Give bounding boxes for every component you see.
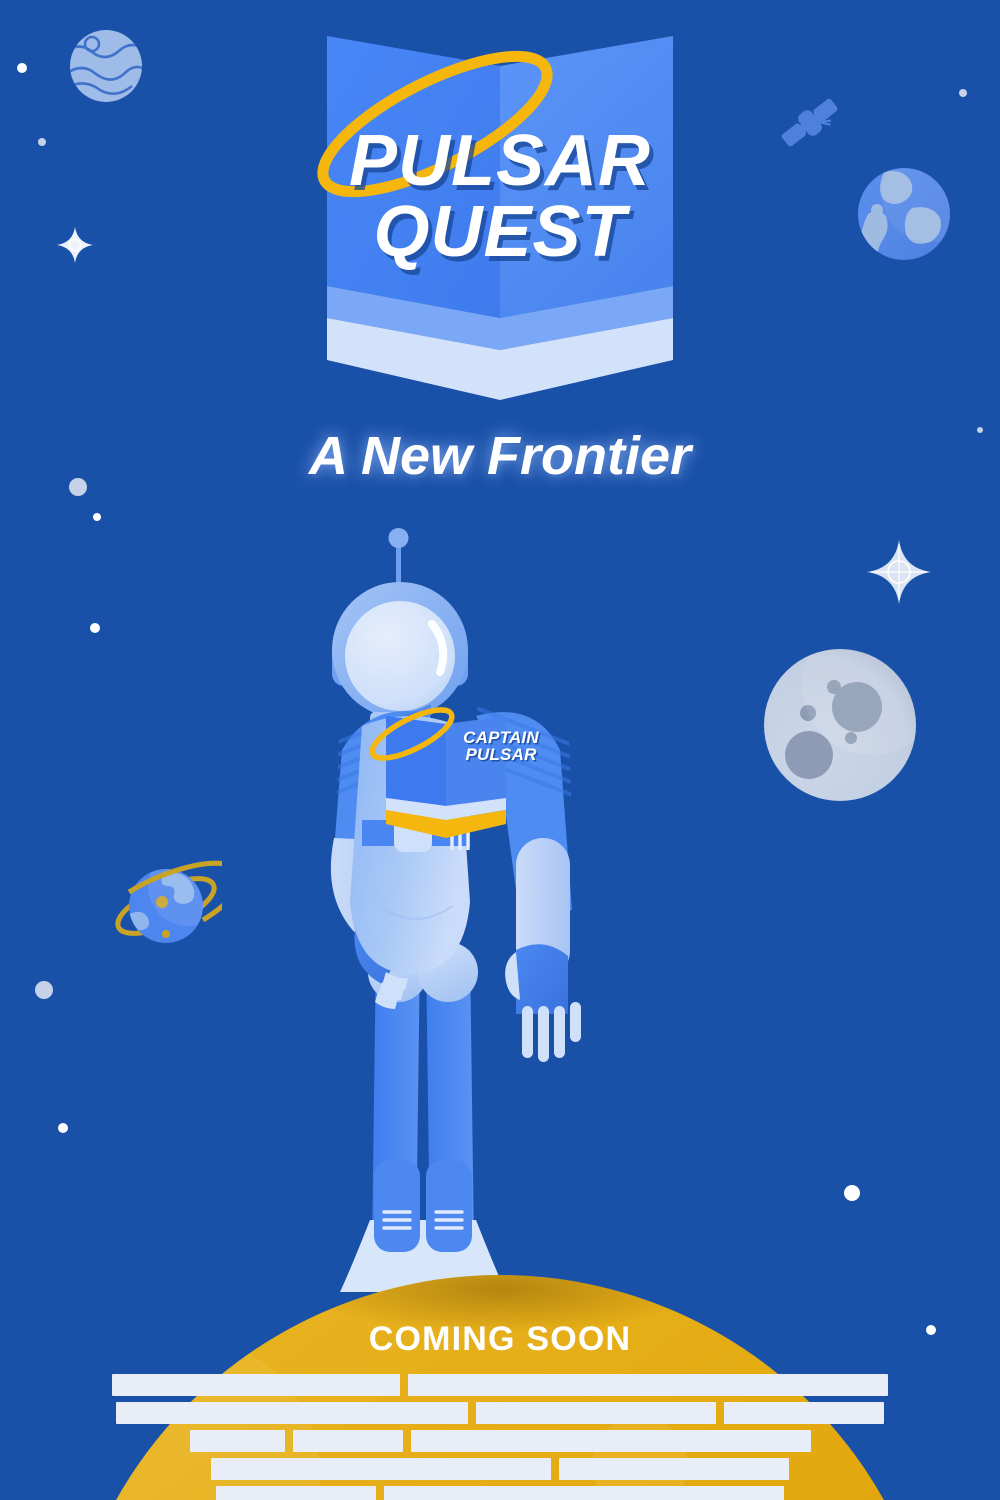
placeholder-text-bars xyxy=(0,1374,1000,1500)
pulsar-quest-badge: PULSAR QUEST xyxy=(315,18,685,418)
background-star xyxy=(93,513,101,521)
placeholder-bar xyxy=(724,1402,884,1424)
placeholder-bar xyxy=(216,1486,376,1500)
placeholder-bar-row xyxy=(0,1486,1000,1500)
placeholder-bar xyxy=(384,1486,784,1500)
background-star xyxy=(35,981,53,999)
moon-craters-right xyxy=(760,645,920,805)
placeholder-bar xyxy=(559,1458,789,1480)
placeholder-bar-row xyxy=(0,1458,1000,1480)
placeholder-bar xyxy=(476,1402,716,1424)
poster-subtitle: A New Frontier xyxy=(0,425,1000,487)
placeholder-bar xyxy=(190,1430,285,1452)
placeholder-bar-row xyxy=(0,1374,1000,1396)
sparkle-large-right xyxy=(865,538,933,606)
logo-lockup: PULSAR QUEST xyxy=(0,18,1000,418)
placeholder-bar xyxy=(112,1374,400,1396)
poster-canvas: PULSAR QUEST A New Frontier xyxy=(0,0,1000,1500)
placeholder-bar-row xyxy=(0,1402,1000,1424)
astronaut-legs xyxy=(340,942,506,1292)
background-star xyxy=(58,1123,68,1133)
coming-soon-label: COMING SOON xyxy=(0,1320,1000,1359)
placeholder-bar xyxy=(211,1458,551,1480)
placeholder-bar-row xyxy=(0,1430,1000,1452)
background-star xyxy=(90,623,100,633)
helmet-antenna xyxy=(389,528,409,590)
placeholder-bar xyxy=(293,1430,403,1452)
placeholder-bar xyxy=(408,1374,888,1396)
captain-pulsar-astronaut: CAPTAIN PULSAR xyxy=(300,520,700,1320)
placeholder-bar xyxy=(116,1402,468,1424)
background-star xyxy=(844,1185,860,1201)
placeholder-bar xyxy=(411,1430,811,1452)
planet-ringed-left xyxy=(110,850,222,962)
